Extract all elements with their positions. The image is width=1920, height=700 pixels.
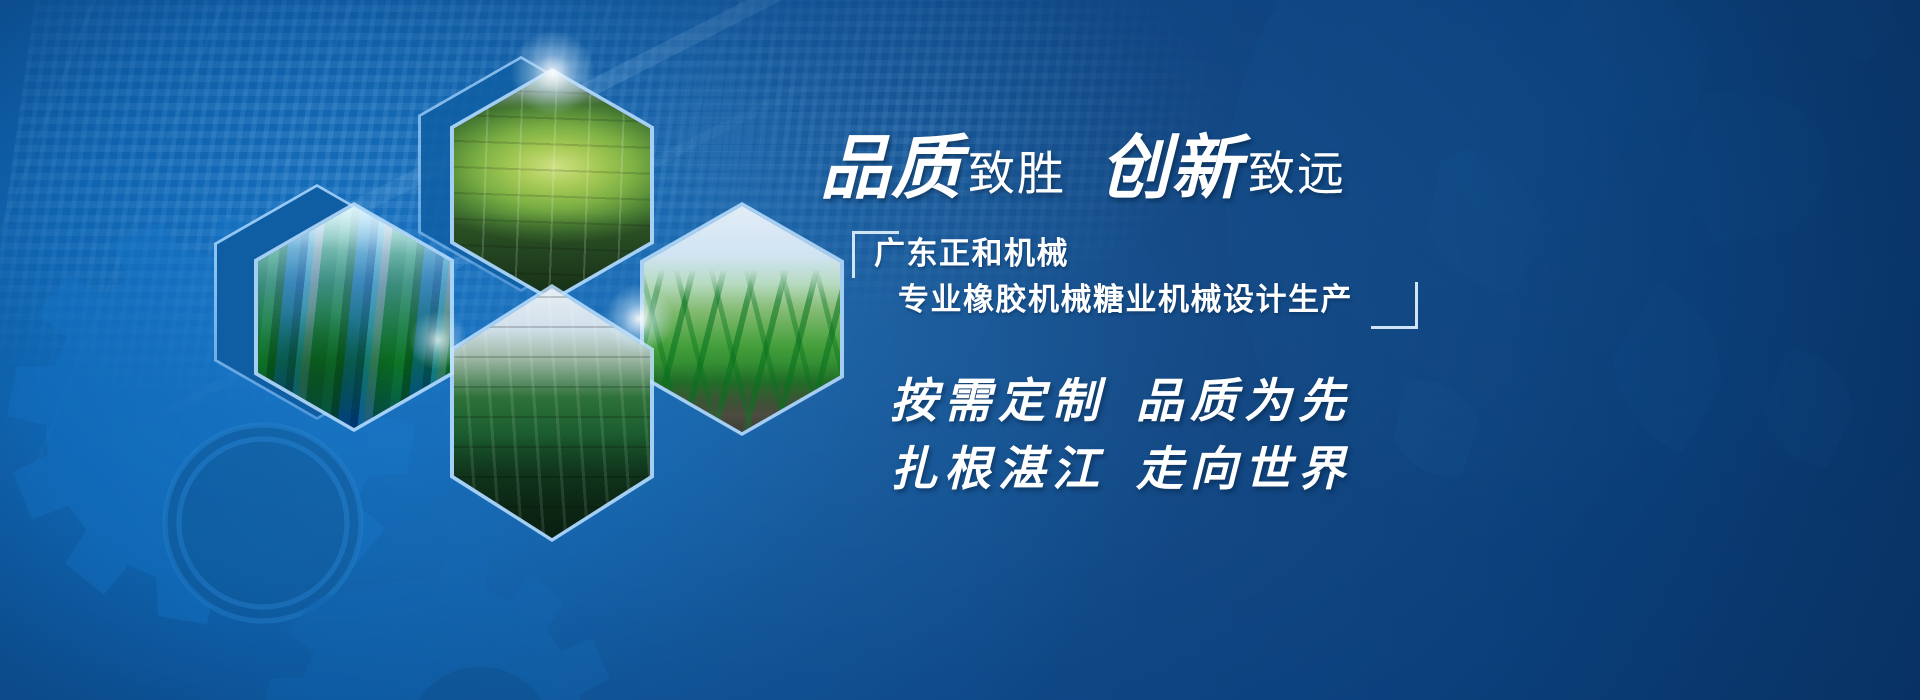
headline: 品质致胜创新致远 (820, 112, 1346, 213)
image-rubber-conveyor-line (454, 288, 650, 538)
banner-text-block: 品质致胜创新致远 广东正和机械 专业橡胶机械糖业机械设计生产 按需定制品质为先 … (820, 96, 1840, 616)
headline-part1-big: 品质 (820, 131, 962, 208)
promotional-banner: 品质致胜创新致远 广东正和机械 专业橡胶机械糖业机械设计生产 按需定制品质为先 … (0, 0, 1920, 700)
slogan-2-left: 扎根湛江 (890, 444, 1106, 496)
slogan-row-1: 按需定制品质为先 (890, 368, 1352, 436)
headline-part2-big: 创新 (1100, 131, 1242, 208)
subtitle-line-business: 专业橡胶机械糖业机械设计生产 (898, 277, 1332, 323)
hexagon-photo-trailer (644, 206, 840, 432)
bracket-bottom-right-icon (1371, 282, 1418, 329)
hexagon-photo-conveyor (454, 288, 650, 538)
slogan-2-right: 走向世界 (1136, 444, 1352, 496)
slogan-1-right: 品质为先 (1136, 376, 1352, 428)
slogan-block: 按需定制品质为先 扎根湛江走向世界 (890, 368, 1352, 504)
headline-part2-small: 致远 (1248, 147, 1346, 200)
subtitle-line-company: 广东正和机械 (874, 231, 1332, 277)
slogan-row-2: 扎根湛江走向世界 (890, 436, 1352, 504)
headline-part1-small: 致胜 (968, 147, 1066, 200)
hexagon-photo-cluster (232, 52, 852, 572)
image-green-trailer-machine (644, 206, 840, 432)
bracket-top-left-icon (852, 231, 899, 278)
subtitle-block: 广东正和机械 专业橡胶机械糖业机械设计生产 (852, 231, 1332, 323)
slogan-1-left: 按需定制 (890, 376, 1106, 428)
